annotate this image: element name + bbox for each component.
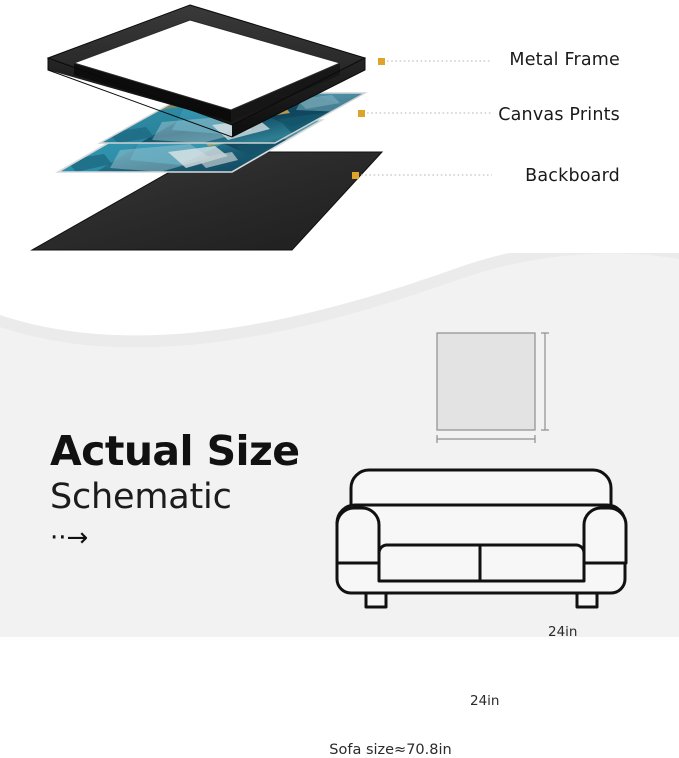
sofa-arm-left [337, 508, 379, 563]
label-canvas-prints: Canvas Prints [498, 105, 620, 125]
artwork-height-label: 24in [548, 624, 578, 640]
sofa-leg-right [577, 593, 597, 607]
artwork-width-label: 24in [470, 693, 500, 709]
exploded-product-view: Metal Frame Canvas Prints Backboard [0, 0, 679, 265]
headline-bold: Actual Size [50, 431, 299, 472]
sofa-size-text: Sofa size≈70.8in [329, 742, 451, 758]
arrow-icon: ··→ [50, 525, 88, 551]
sofa-arm-right [584, 508, 626, 563]
leader-marker-metal-frame [378, 58, 385, 65]
artwork-size-diagram [437, 333, 549, 443]
infographic-root: Metal Frame Canvas Prints Backboard [0, 0, 679, 637]
actual-size-section: Actual Size Schematic ··→ 24in 24in Sofa… [0, 253, 679, 637]
label-backboard: Backboard [525, 166, 620, 186]
label-metal-frame: Metal Frame [509, 50, 620, 70]
leader-marker-backboard [352, 172, 359, 179]
artwork-square [437, 333, 535, 430]
exploded-diagram-svg [0, 0, 679, 265]
sofa-cushion-left [379, 545, 480, 581]
actual-size-headline: Actual Size Schematic [50, 431, 299, 515]
leader-marker-canvas-prints [358, 110, 365, 117]
sofa-size-label: Sofa size≈70.8in [0, 742, 679, 758]
headline-light: Schematic [50, 480, 299, 515]
sofa-leg-left [366, 593, 386, 607]
sofa-cushion-right [480, 545, 584, 581]
sofa-illustration [337, 470, 626, 607]
